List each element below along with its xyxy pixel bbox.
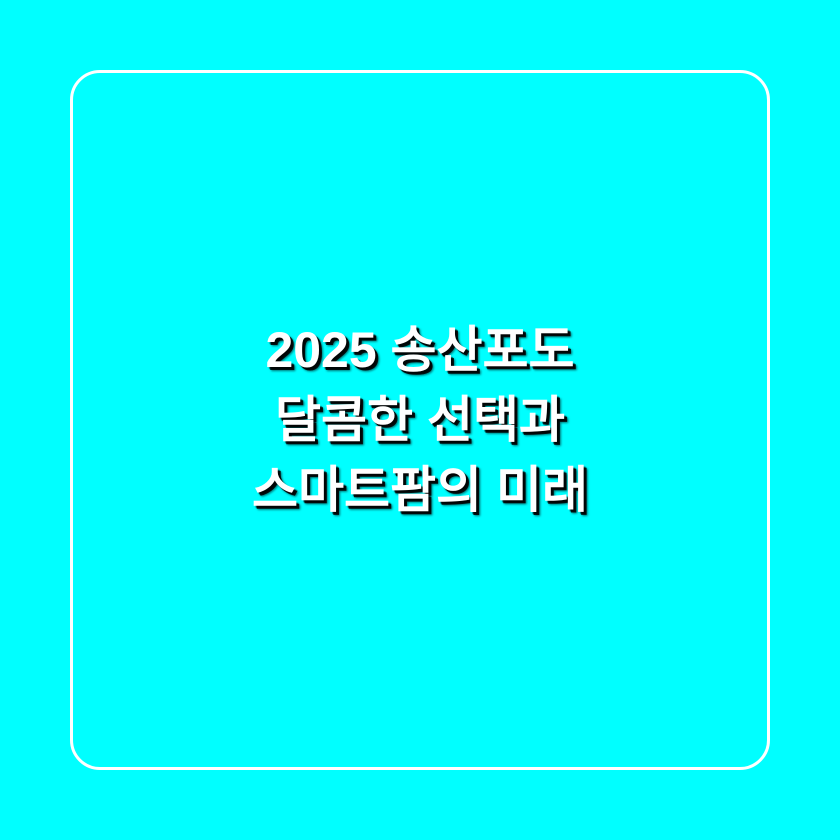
headline-line-1: 2025 송산포도 bbox=[94, 315, 746, 385]
headline-line-3: 스마트팜의 미래 bbox=[94, 455, 746, 525]
headline-line-2: 달콤한 선택과 bbox=[94, 385, 746, 455]
headline-block: 2025 송산포도 달콤한 선택과 스마트팜의 미래 bbox=[70, 70, 770, 770]
thumbnail-canvas: 2025 송산포도 달콤한 선택과 스마트팜의 미래 bbox=[0, 0, 840, 840]
